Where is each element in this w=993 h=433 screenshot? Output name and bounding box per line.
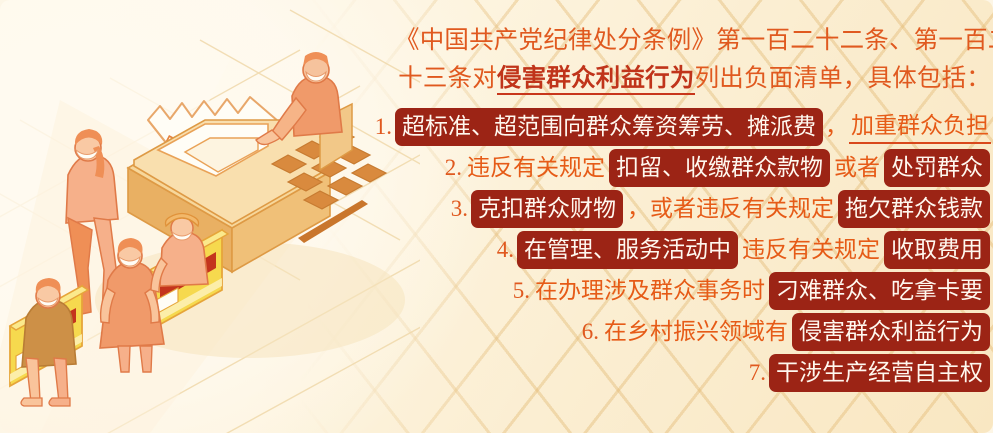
list-item: 1.超标准、超范围向群众筹资筹劳、摊派费，加重群众负担: [395, 106, 993, 147]
list-item-number: 7.: [749, 360, 766, 386]
header-line-2-suffix: 列出负面清单，具体包括：: [695, 65, 991, 92]
list-item-number: 5.: [513, 278, 530, 304]
highlight-badge: 在管理、服务活动中: [517, 231, 738, 269]
highlight-badge: 收取费用: [884, 231, 990, 269]
negative-list: 1.超标准、超范围向群众筹资筹劳、摊派费，加重群众负担2.违反有关规定扣留、收缴…: [395, 106, 993, 393]
plain-text: 违反有关规定: [464, 152, 608, 183]
list-item-number: 4.: [497, 237, 514, 263]
illustration: 吃拿卡要: [0, 0, 420, 433]
plain-text: 在乡村振兴领域有: [601, 316, 791, 347]
header-line-1: 《中国共产党纪律处分条例》第一百二十二条、第一百二: [395, 22, 991, 60]
plain-text: ，: [824, 111, 849, 142]
plain-text: 或者: [831, 152, 883, 183]
list-item: 6.在乡村振兴领域有侵害群众利益行为: [395, 311, 993, 352]
plain-text: 在办理涉及群众事务时: [532, 275, 768, 306]
highlight-badge: 干涉生产经营自主权: [769, 354, 990, 392]
header-line-2-prefix: 十三条对: [398, 65, 497, 92]
highlight-badge: 拖欠群众钱款: [838, 190, 990, 228]
list-item-number: 2.: [445, 155, 462, 181]
plain-text: 违反有关规定: [739, 234, 883, 265]
list-item: 5.在办理涉及群众事务时刁难群众、吃拿卡要: [395, 270, 993, 311]
highlight-badge: 刁难群众、吃拿卡要: [769, 272, 990, 310]
list-item-number: 3.: [451, 196, 468, 222]
highlight-badge: 扣留、收缴群众款物: [609, 149, 830, 187]
list-item-number: 6.: [582, 319, 599, 345]
list-item: 3.克扣群众财物，或者违反有关规定拖欠群众钱款: [395, 188, 993, 229]
highlight-badge: 侵害群众利益行为: [792, 313, 990, 351]
highlight-badge: 克扣群众财物: [471, 190, 623, 228]
list-item: 2.违反有关规定扣留、收缴群众款物或者处罚群众: [395, 147, 993, 188]
content-column: 《中国共产党纪律处分条例》第一百二十二条、第一百二 十三条对侵害群众利益行为列出…: [395, 22, 993, 422]
underlined-text: 加重群众负担: [849, 110, 991, 144]
highlight-badge: 超标准、超范围向群众筹资筹劳、摊派费: [395, 108, 823, 146]
header-line-2: 十三条对侵害群众利益行为列出负面清单，具体包括：: [395, 60, 991, 98]
header-line-1-text: 《中国共产党纪律处分条例》第一百二十二条、第一百二: [395, 27, 993, 54]
highlight-badge: 处罚群众: [884, 149, 990, 187]
poster-root: 吃拿卡要: [0, 0, 993, 433]
plain-text: ，或者违反有关规定: [624, 193, 837, 224]
list-item: 7.干涉生产经营自主权: [395, 352, 993, 393]
header-block: 《中国共产党纪律处分条例》第一百二十二条、第一百二 十三条对侵害群众利益行为列出…: [395, 22, 993, 98]
list-item-number: 1.: [375, 114, 392, 140]
header-keyword: 侵害群众利益行为: [497, 65, 695, 95]
list-item: 4.在管理、服务活动中违反有关规定收取费用: [395, 229, 993, 270]
